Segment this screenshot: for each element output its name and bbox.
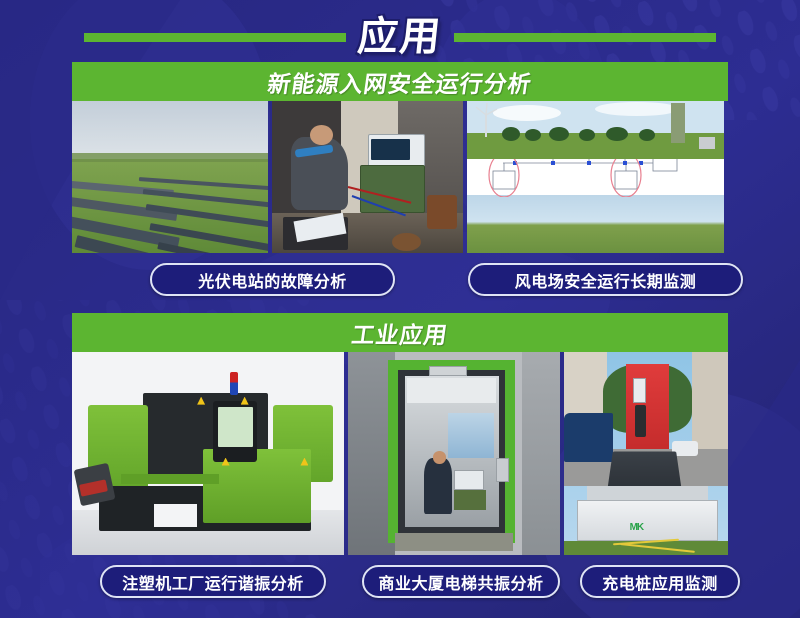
mk-logo: MK — [630, 522, 644, 533]
caption-injection-molding-resonance-label: 注塑机工厂运行谐振分析 — [122, 570, 304, 594]
photo-strip-industrial: MK — [72, 352, 728, 555]
solar-farm-photo — [72, 101, 268, 253]
title-rule-right — [454, 33, 716, 42]
section-banner-label-2: 工业应用 — [350, 316, 451, 350]
elevator-photo — [348, 352, 560, 555]
caption-pv-fault-analysis[interactable]: 光伏电站的故障分析 — [150, 263, 395, 296]
title-rule-left — [84, 33, 346, 42]
section-banner-label: 新能源入网安全运行分析 — [266, 65, 535, 99]
caption-elevator-resonance-label: 商业大厦电梯共振分析 — [378, 570, 543, 594]
caption-charging-pile-monitoring-label: 充电桩应用监测 — [602, 570, 718, 594]
poster-root: 应用 新能源入网安全运行分析 — [0, 0, 800, 618]
caption-wind-farm-monitoring-label: 风电场安全运行长期监测 — [515, 268, 697, 292]
wind-farm-diagram-photo: MK-Messung I MK-Messung II MK-Messung II… — [467, 101, 724, 253]
caption-injection-molding-resonance[interactable]: 注塑机工厂运行谐振分析 — [100, 565, 326, 598]
section-banner-industrial: 工业应用 — [72, 313, 728, 352]
injection-molding-machine-photo — [72, 352, 344, 555]
caption-wind-farm-monitoring[interactable]: 风电场安全运行长期监测 — [468, 263, 743, 296]
caption-pv-fault-analysis-label: 光伏电站的故障分析 — [198, 268, 347, 292]
section-banner-new-energy: 新能源入网安全运行分析 — [72, 62, 728, 101]
field-technician-photo — [272, 101, 463, 253]
wind-farm-landscape — [467, 101, 724, 159]
charging-station-photo: MK — [564, 352, 728, 555]
caption-charging-pile-monitoring[interactable]: 充电桩应用监测 — [580, 565, 740, 598]
caption-elevator-resonance[interactable]: 商业大厦电梯共振分析 — [362, 565, 560, 598]
photo-strip-new-energy: MK-Messung I MK-Messung II MK-Messung II… — [72, 101, 728, 253]
page-title-row: 应用 — [0, 6, 800, 68]
page-title: 应用 — [352, 17, 448, 57]
